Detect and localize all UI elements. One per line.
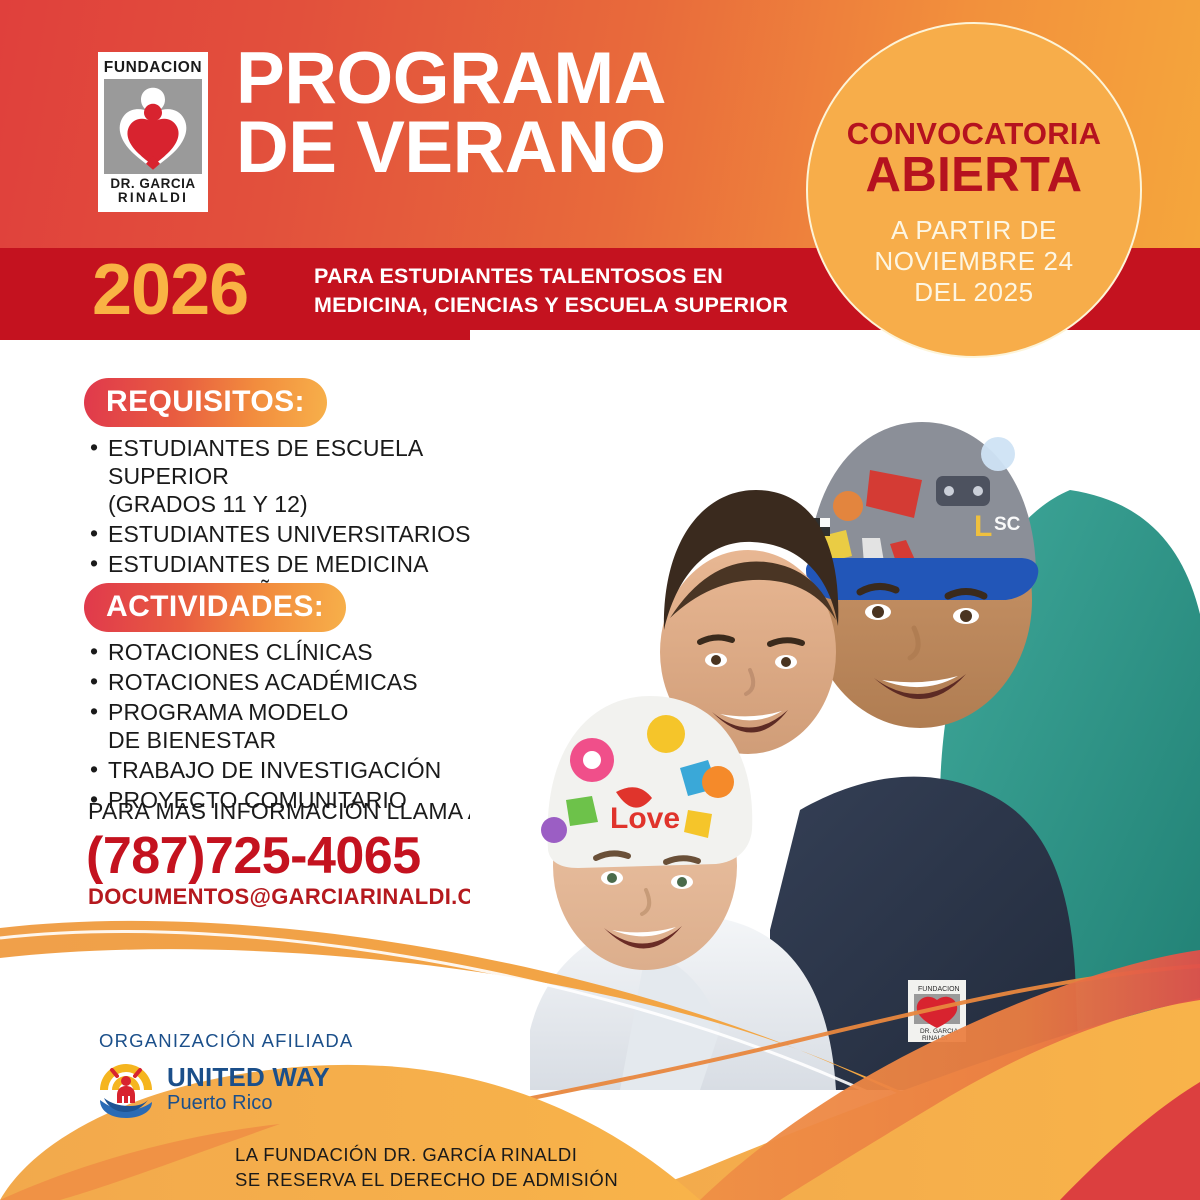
disclaimer-line1: LA FUNDACIÓN DR. GARCÍA RINALDI — [235, 1143, 618, 1168]
svg-text:SC: SC — [994, 514, 1021, 535]
list-item-text: ESTUDIANTES DE ESCUELA SUPERIOR — [108, 435, 422, 489]
badge-line-2: ABIERTA — [866, 151, 1083, 201]
list-item-text: TRABAJO DE INVESTIGACIÓN — [108, 757, 441, 783]
title-line-2: DE VERANO — [236, 113, 666, 182]
disclaimer-line2: SE RESERVA EL DERECHO DE ADMISIÓN — [235, 1168, 618, 1193]
list-item-cont: (GRADOS 11 Y 12) — [108, 490, 518, 518]
svg-text:L: L — [974, 510, 992, 543]
affiliate-name: UNITED WAY — [167, 1064, 330, 1090]
affiliate-region: Puerto Rico — [167, 1092, 330, 1114]
united-way-hand-icon — [96, 1060, 156, 1118]
logo-title: FUNDACION — [104, 60, 202, 76]
badge-date-line2: NOVIEMBRE 24 — [874, 246, 1073, 277]
svg-text:Love: Love — [610, 802, 680, 835]
list-item-cont: DE BIENESTAR — [108, 726, 518, 754]
badge-date: A PARTIR DE NOVIEMBRE 24 DEL 2025 — [874, 215, 1073, 309]
actividades-list: ROTACIONES CLÍNICAS ROTACIONES ACADÉMICA… — [88, 638, 518, 816]
list-item: ROTACIONES CLÍNICAS — [88, 638, 518, 666]
year-number: 2026 — [92, 254, 248, 326]
year-subtitle-line2: MEDICINA, CIENCIAS Y ESCUELA SUPERIOR — [314, 291, 788, 320]
badge-date-line3: DEL 2025 — [874, 277, 1073, 308]
list-item: TRABAJO DE INVESTIGACIÓN — [88, 756, 518, 784]
list-item-text: ESTUDIANTES UNIVERSITARIOS — [108, 521, 471, 547]
logo-subtitle-line2: RINALDI — [110, 191, 195, 205]
page-title: PROGRAMA DE VERANO — [236, 44, 666, 183]
requisitos-heading: REQUISITOS: — [84, 378, 327, 427]
list-item: ESTUDIANTES UNIVERSITARIOS — [88, 520, 518, 548]
contact-label: PARA MÁS INFORMACIÓN LLAMA AL — [88, 798, 496, 825]
list-item-text: ESTUDIANTES DE MEDICINA — [108, 551, 429, 577]
actividades-heading: ACTIVIDADES: — [84, 583, 346, 632]
affiliate-block: ORGANIZACIÓN AFILIADA UNITED WAY Puerto … — [96, 1030, 353, 1118]
list-item: PROGRAMA MODELO DE BIENESTAR — [88, 698, 518, 754]
list-item-text: ROTACIONES CLÍNICAS — [108, 639, 373, 665]
affiliate-label: ORGANIZACIÓN AFILIADA — [96, 1030, 353, 1052]
heart-logo-icon — [104, 79, 202, 174]
list-item-text: PROGRAMA MODELO — [108, 699, 348, 725]
call-open-badge: CONVOCATORIA ABIERTA A PARTIR DE NOVIEMB… — [806, 22, 1142, 358]
badge-line-1: CONVOCATORIA — [847, 118, 1101, 149]
year-subtitle-line1: PARA ESTUDIANTES TALENTOSOS EN — [314, 262, 788, 291]
list-item: ROTACIONES ACADÉMICAS — [88, 668, 518, 696]
list-item-text: ROTACIONES ACADÉMICAS — [108, 669, 418, 695]
logo-subtitle-line1: DR. GARCIA — [110, 176, 195, 191]
list-item: ESTUDIANTES DE ESCUELA SUPERIOR (GRADOS … — [88, 434, 518, 518]
disclaimer: LA FUNDACIÓN DR. GARCÍA RINALDI SE RESER… — [235, 1143, 618, 1193]
year-subtitle: PARA ESTUDIANTES TALENTOSOS EN MEDICINA,… — [314, 262, 788, 320]
title-line-1: PROGRAMA — [236, 44, 666, 113]
poster-root: L SC — [0, 0, 1200, 1200]
foundation-logo: FUNDACION DR. GARCIA RINALDI — [98, 52, 208, 212]
phone-number[interactable]: (787)725-4065 — [86, 826, 421, 886]
badge-date-line1: A PARTIR DE — [874, 215, 1073, 246]
logo-subtitle: DR. GARCIA RINALDI — [110, 177, 195, 206]
